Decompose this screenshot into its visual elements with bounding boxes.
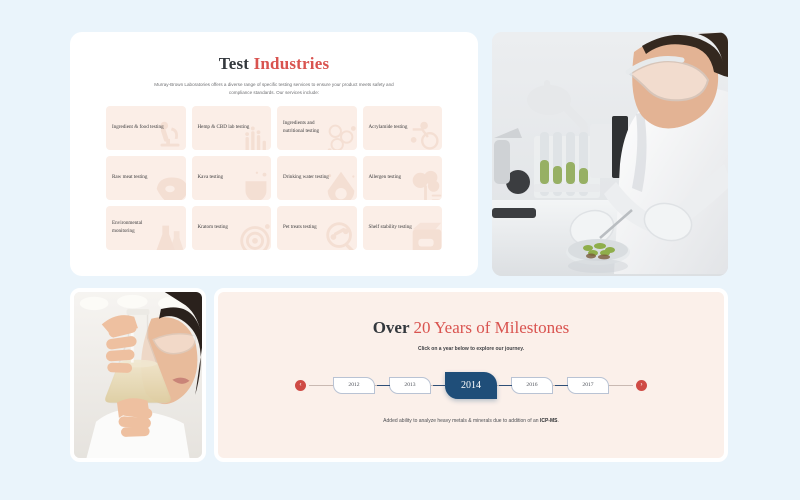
panel-subtitle: Murray-Brown Laboratories offers a diver… bbox=[151, 81, 397, 97]
industry-card[interactable]: Kratom testing bbox=[192, 206, 272, 250]
water-drop-icon bbox=[321, 168, 357, 200]
steak-icon bbox=[150, 168, 186, 200]
milestones-title: Over 20 Years of Milestones bbox=[218, 318, 724, 338]
industry-card-label: Allergen testing bbox=[369, 174, 402, 182]
industry-card[interactable]: Raw meat testing bbox=[106, 156, 186, 200]
timeline-year-2012[interactable]: 2012 bbox=[333, 377, 375, 394]
milestones-title-accent: 20 Years of Milestones bbox=[413, 318, 569, 337]
industry-card-label: Shelf stability testing bbox=[369, 224, 412, 232]
industry-card-label: Ingredient & food testing bbox=[112, 124, 164, 132]
milestone-description-suffix: . bbox=[557, 418, 558, 424]
test-industries-panel: Test Industries Murray-Brown Laboratorie… bbox=[70, 32, 478, 276]
industry-card[interactable]: Kava testing bbox=[192, 156, 272, 200]
industry-card-label: Kratom testing bbox=[198, 224, 228, 232]
timeline-year-2016[interactable]: 2016 bbox=[511, 377, 553, 394]
cup-icon bbox=[235, 168, 271, 200]
page-title-accent: Industries bbox=[254, 54, 330, 73]
industries-grid: Ingredient & food testing Hemp & CBD lab… bbox=[106, 106, 442, 250]
timeline-year-list: 2012 2013 2014 2016 2017 bbox=[333, 372, 609, 399]
page-title-plain: Test bbox=[219, 54, 254, 73]
industry-card-label: Acrylamide testing bbox=[369, 124, 408, 132]
milestones-timeline: ‹ 2012 2013 2014 2016 2017 › bbox=[295, 368, 647, 402]
timeline-prev-button[interactable]: ‹ bbox=[295, 380, 306, 391]
industry-card[interactable]: Pet treats testing bbox=[277, 206, 357, 250]
milestones-subtitle: Click on a year below to explore our jou… bbox=[218, 346, 724, 352]
industry-card[interactable]: Acrylamide testing bbox=[363, 106, 443, 150]
timeline-year-2017[interactable]: 2017 bbox=[567, 377, 609, 394]
timeline-year-2013[interactable]: 2013 bbox=[389, 377, 431, 394]
milestones-title-plain: Over bbox=[373, 318, 414, 337]
industry-card-label: Kava testing bbox=[198, 174, 224, 182]
industry-card-label: Drinking water testing bbox=[283, 174, 329, 182]
industry-card-label: Pet treats testing bbox=[283, 224, 317, 232]
timeline-next-button[interactable]: › bbox=[636, 380, 647, 391]
industry-card[interactable]: Ingredient & food testing bbox=[106, 106, 186, 150]
page-root: Test Industries Murray-Brown Laboratorie… bbox=[0, 0, 800, 500]
bone-magnifier-icon bbox=[321, 218, 357, 250]
scientist-holding-flask-photo bbox=[74, 292, 202, 458]
milestone-description: Added ability to analyze heavy metals & … bbox=[218, 418, 724, 424]
industry-card-label: Environmental monitoring bbox=[112, 220, 166, 235]
chemistry-ring-icon bbox=[406, 118, 442, 150]
industry-card[interactable]: Shelf stability testing bbox=[363, 206, 443, 250]
industry-card[interactable]: Allergen testing bbox=[363, 156, 443, 200]
scientist-examining-petri-dish-photo bbox=[492, 32, 728, 276]
industry-card-label: Raw meat testing bbox=[112, 174, 147, 182]
industry-card[interactable]: Environmental monitoring bbox=[106, 206, 186, 250]
flask-scientist-photo bbox=[70, 288, 206, 462]
page-title: Test Industries bbox=[70, 54, 478, 74]
industry-card-label: Ingredients and nutritional testing bbox=[283, 120, 337, 135]
lab-scientist-photo bbox=[492, 32, 728, 276]
package-icon bbox=[406, 218, 442, 250]
tree-pollen-icon bbox=[406, 168, 442, 200]
milestone-description-highlight: ICP-MS bbox=[540, 418, 558, 424]
microscope-icon bbox=[150, 118, 186, 150]
industry-card-label: Hemp & CBD lab testing bbox=[198, 124, 250, 132]
industry-card[interactable]: Hemp & CBD lab testing bbox=[192, 106, 272, 150]
milestones-panel: Over 20 Years of Milestones Click on a y… bbox=[214, 288, 728, 462]
industry-card[interactable]: Drinking water testing bbox=[277, 156, 357, 200]
industry-card[interactable]: Ingredients and nutritional testing bbox=[277, 106, 357, 150]
milestone-description-text: Added ability to analyze heavy metals & … bbox=[383, 418, 540, 424]
leaf-spiral-icon bbox=[235, 218, 271, 250]
timeline-year-2014-active[interactable]: 2014 bbox=[445, 372, 497, 399]
cannabis-icon bbox=[235, 118, 271, 150]
